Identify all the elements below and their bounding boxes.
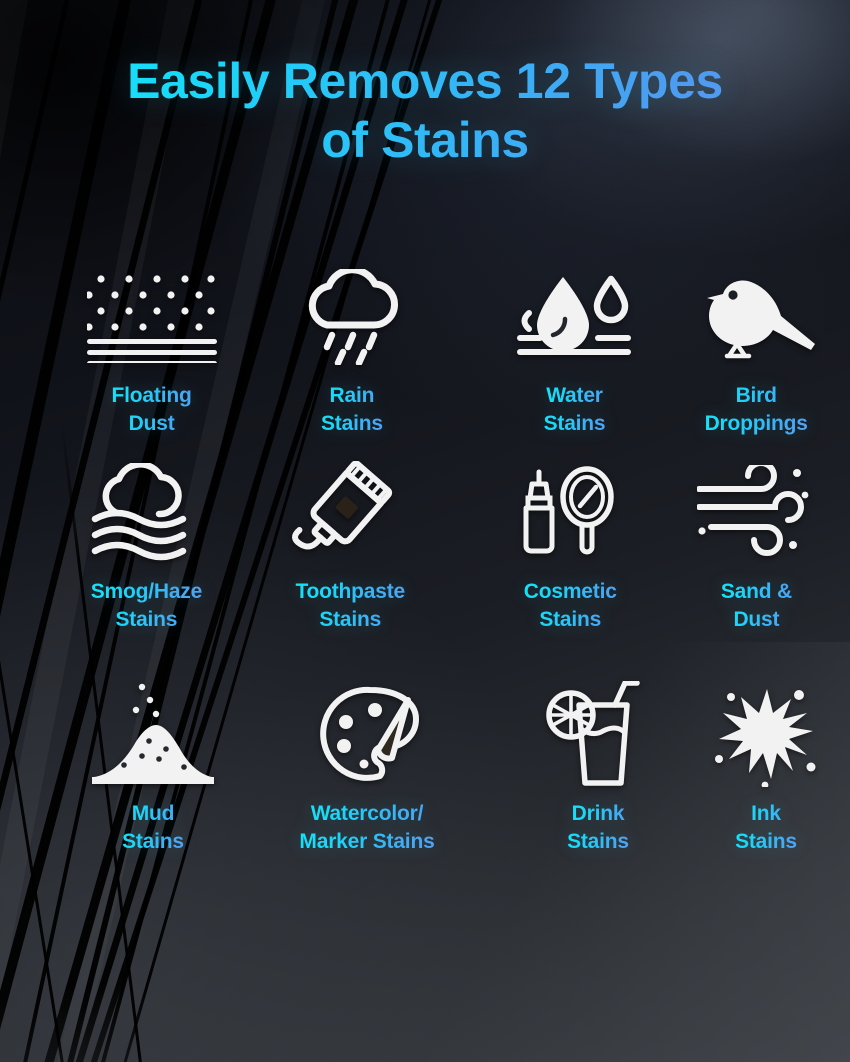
wind-dust-icon (697, 458, 815, 568)
grid-row: Mud Stains Watercolor/ Ma (0, 680, 850, 900)
page-title: Easily Removes 12 Types of Stains (0, 52, 850, 169)
grid-item-label: Watercolor/ Marker Stains (299, 800, 434, 856)
stain-type-grid: Floating Dust Rain Stai (0, 262, 850, 900)
paint-palette-icon (312, 680, 422, 790)
drink-glass-icon (545, 680, 651, 790)
grid-item-label: Sand & Dust (721, 578, 792, 634)
bird-icon (693, 262, 819, 372)
grid-item-ink[interactable]: Ink Stains (682, 680, 850, 900)
grid-item-cosmetic[interactable]: Cosmetic Stains (472, 458, 669, 680)
mud-pile-icon (90, 680, 216, 790)
lipstick-mirror-icon (519, 458, 621, 568)
grid-item-sand-dust[interactable]: Sand & Dust (663, 458, 850, 680)
toothpaste-tube-icon (291, 458, 409, 568)
grid-row: Floating Dust Rain Stai (0, 262, 850, 458)
grid-row: Smog/Haze Stains Toot (0, 458, 850, 680)
grid-item-toothpaste[interactable]: Toothpaste Stains (247, 458, 454, 680)
water-droplet-icon (515, 262, 635, 372)
smog-haze-icon (87, 458, 205, 568)
grid-item-label: Drink Stains (567, 800, 629, 856)
ink-splatter-icon (713, 680, 819, 790)
grid-item-label: Mud Stains (122, 800, 184, 856)
grid-item-label: Ink Stains (735, 800, 797, 856)
rain-cloud-icon (301, 262, 403, 372)
grid-item-label: Water Stains (544, 382, 606, 438)
grid-item-label: Rain Stains (321, 382, 383, 438)
grid-item-label: Toothpaste Stains (295, 578, 405, 634)
grid-item-rain-stains[interactable]: Rain Stains (253, 262, 451, 458)
grid-item-label: Cosmetic Stains (524, 578, 617, 634)
grid-item-floating-dust[interactable]: Floating Dust (38, 262, 265, 458)
grid-item-smog-haze[interactable]: Smog/Haze Stains (38, 458, 255, 680)
grid-item-label: Bird Droppings (705, 382, 808, 438)
poster-canvas: Easily Removes 12 Types of Stains (0, 0, 850, 1062)
grid-item-label: Smog/Haze Stains (91, 578, 202, 634)
grid-item-bird-droppings[interactable]: Bird Droppings (662, 262, 850, 458)
floating-dust-icon (87, 262, 217, 372)
grid-item-watercolor[interactable]: Watercolor/ Marker Stains (264, 680, 470, 900)
grid-item-mud[interactable]: Mud Stains (40, 680, 266, 900)
grid-item-drink[interactable]: Drink Stains (498, 680, 698, 900)
grid-item-water-stains[interactable]: Water Stains (481, 262, 669, 458)
grid-item-label: Floating Dust (112, 382, 192, 438)
